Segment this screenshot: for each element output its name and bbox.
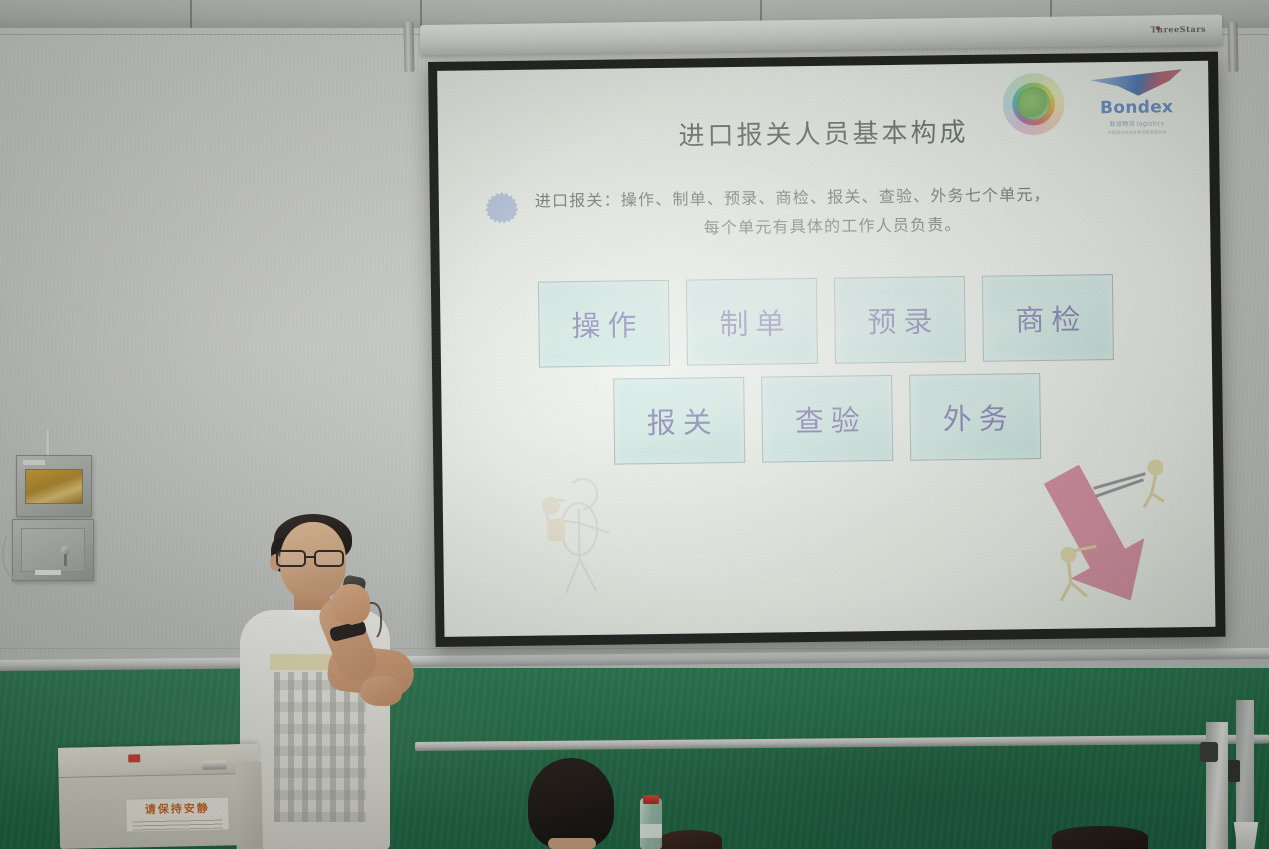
sticker-fine-print — [132, 817, 222, 831]
cabinet-label — [35, 570, 61, 575]
wall-conduit — [46, 430, 50, 458]
slide-title: 进口报关人员基本构成 — [438, 109, 1209, 156]
slide-body-text: 进口报关：操作、制单、预录、商检、报关、查验、外务七个单元， 每个单元有具体的工… — [535, 179, 1193, 245]
pole-clip — [1228, 760, 1240, 782]
presenter-left-hand — [360, 676, 402, 706]
unit-box-label: 操作 — [564, 302, 644, 345]
unit-box: 操作 — [538, 280, 670, 368]
equipment-lectern[interactable]: 请保持安静 — [58, 744, 260, 849]
cabinet-door — [21, 528, 85, 572]
unit-box-row-1: 操作 制单 预录 商检 — [440, 273, 1212, 369]
audience-head-center — [528, 758, 614, 849]
lectern-lid — [58, 744, 259, 778]
screen-brand-label: ThreeStars — [1151, 24, 1207, 35]
unit-box-label: 外务 — [935, 395, 1015, 438]
unit-box: 制单 — [686, 278, 818, 366]
unit-box-label: 预录 — [860, 298, 940, 341]
projection-surface: Bondex 联运物流 logistics 中国领先的综合物流服务提供商 进口报… — [437, 61, 1215, 637]
slide: Bondex 联运物流 logistics 中国领先的综合物流服务提供商 进口报… — [437, 61, 1215, 637]
lectern-latch[interactable] — [202, 760, 226, 770]
slide-bullet-row: 进口报关：操作、制单、预录、商检、报关、查验、外务七个单元， 每个单元有具体的工… — [485, 179, 1193, 246]
presenter — [232, 498, 432, 849]
fire-alarm-cabinet[interactable] — [16, 455, 92, 517]
unit-box: 商检 — [982, 274, 1114, 362]
unit-box: 查验 — [761, 375, 893, 463]
screen-bracket-left — [404, 22, 415, 72]
pink-down-arrow-graphic — [1033, 449, 1185, 611]
classroom-photo: ThreeStars Bondex 联运物流 logistics 中国领先的综合… — [0, 0, 1269, 849]
audience-head-far-right — [1052, 826, 1148, 849]
lectern-warning-sticker: 请保持安静 — [125, 796, 230, 832]
unit-box-label: 查验 — [787, 397, 867, 440]
audience-neck — [548, 838, 596, 849]
bondex-swoosh-icon — [1090, 69, 1182, 96]
unit-box: 报关 — [613, 377, 745, 465]
sticker-text: 请保持安静 — [126, 799, 228, 817]
ghost-figure-watermark — [520, 466, 642, 603]
lectern-side-panel — [235, 762, 263, 849]
glasses-icon — [276, 550, 352, 568]
shirt-print-graphic — [274, 672, 366, 822]
presenter-right-hand — [332, 584, 370, 624]
hanging-cable — [2, 530, 30, 578]
cabinet-amber-glass — [25, 469, 83, 504]
unit-box: 外务 — [909, 373, 1041, 461]
projector-screen-frame: Bondex 联运物流 logistics 中国领先的综合物流服务提供商 进口报… — [428, 52, 1226, 647]
bottle-cap — [643, 795, 659, 804]
unit-box-label: 报关 — [639, 399, 719, 442]
power-indicator-icon — [128, 754, 140, 762]
unit-box-label: 商检 — [1008, 296, 1088, 339]
starburst-icon — [485, 192, 519, 226]
pole-clamp — [1200, 742, 1218, 762]
unit-box-grid: 操作 制单 预录 商检 报关 查验 外务 — [440, 273, 1213, 479]
cabinet-lock-icon[interactable] — [61, 546, 70, 555]
screen-bracket-right — [1228, 22, 1239, 72]
audience-head-right — [660, 830, 722, 849]
bottle-label — [640, 824, 662, 838]
unit-box: 预录 — [834, 276, 966, 364]
unit-box-label: 制单 — [712, 300, 792, 343]
cabinet-tag — [23, 460, 45, 465]
